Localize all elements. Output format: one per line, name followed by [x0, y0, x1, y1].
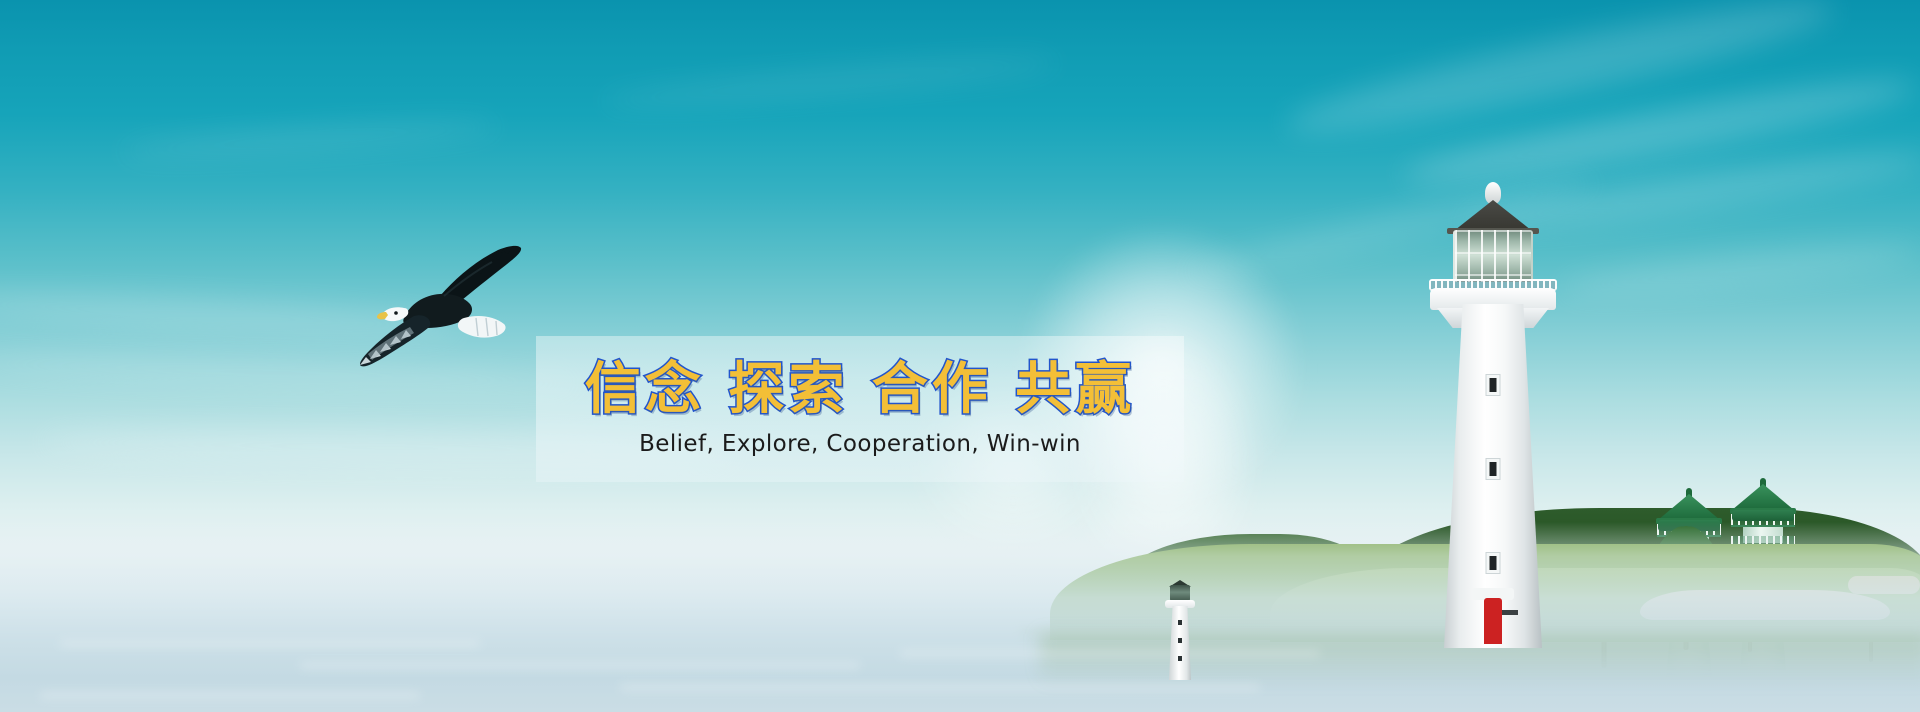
wave-line-2 — [300, 663, 860, 668]
lighthouse-lantern-room — [1453, 230, 1533, 282]
slogan-panel: 信念 探索 合作 共赢 Belief, Explore, Cooperation… — [536, 336, 1184, 482]
lighthouse-window-1 — [1486, 374, 1501, 396]
hero-banner: 信念 探索 合作 共赢 Belief, Explore, Cooperation… — [0, 0, 1920, 712]
wave-line-5 — [900, 651, 1320, 656]
bald-eagle-icon — [352, 238, 522, 368]
slogan-headline-chinese: 信念 探索 合作 共赢 — [585, 361, 1136, 418]
lighthouse-plaque — [1502, 610, 1518, 615]
wave-line-4 — [40, 693, 420, 698]
lighthouse-window-3 — [1486, 552, 1501, 574]
distant-lighthouse — [1160, 580, 1200, 680]
main-lighthouse — [1428, 178, 1558, 648]
lighthouse-window-2 — [1486, 458, 1501, 480]
wave-line-3 — [620, 685, 1260, 690]
wave-line-1 — [60, 641, 480, 646]
lighthouse-red-door — [1484, 598, 1502, 644]
slogan-subline-english: Belief, Explore, Cooperation, Win-win — [639, 431, 1081, 457]
